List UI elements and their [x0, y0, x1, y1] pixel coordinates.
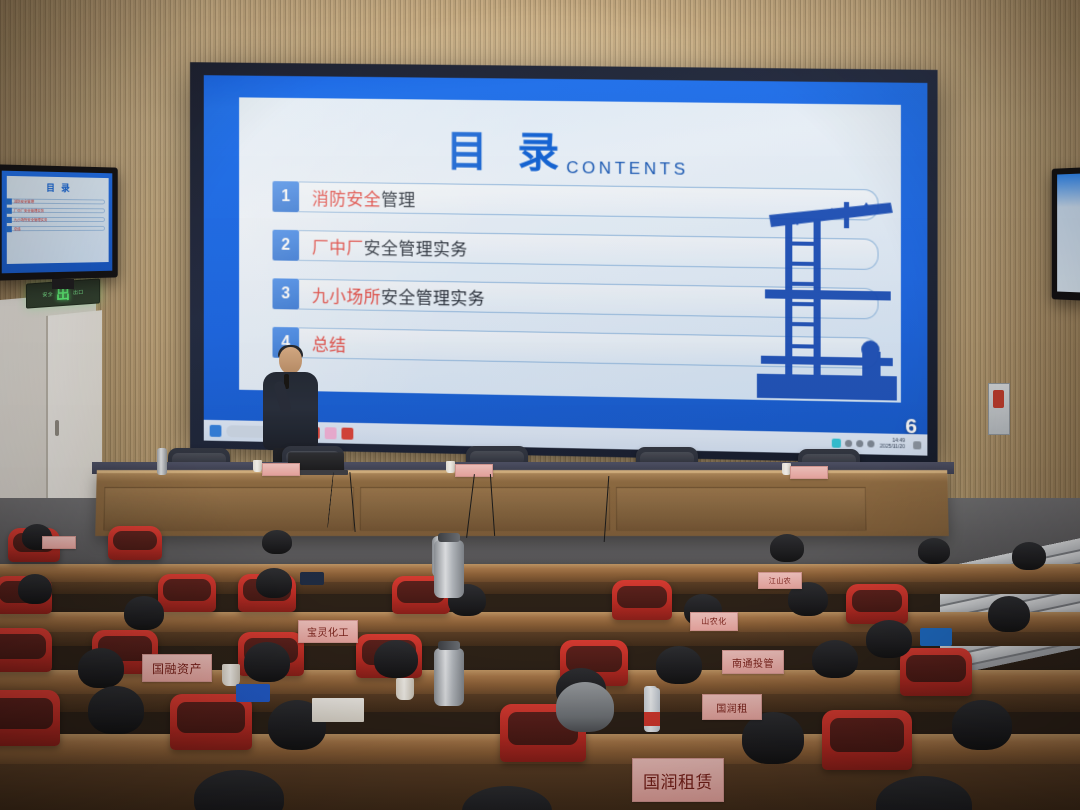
attendee-head: [556, 682, 614, 732]
fire-extinguisher-icon: [993, 390, 1004, 408]
attendee-head: [88, 686, 144, 734]
confidence-monitor-left: 目 录 消防安全管理 厂中厂安全管理实务 九小场所安全管理实务 总结: [0, 164, 118, 280]
monitor-left-screen: 目 录 消防安全管理 厂中厂安全管理实务 九小场所安全管理实务 总结: [2, 171, 113, 274]
windows-start-icon[interactable]: [210, 424, 222, 436]
toc-text-highlight: 厂中厂: [312, 238, 364, 258]
audience-seat[interactable]: [158, 574, 216, 612]
attendee-head: [952, 700, 1012, 750]
attendee-head: [78, 648, 124, 688]
monitor-right-screen: [1057, 173, 1080, 292]
name-placard: 南通投管: [722, 650, 784, 674]
audience-seat[interactable]: [108, 526, 162, 560]
attendee-head: [918, 538, 950, 564]
water-bottle: [644, 688, 660, 732]
paper-cup: [396, 678, 414, 700]
smartphone[interactable]: [300, 572, 324, 585]
smartphone-camera[interactable]: [920, 628, 952, 646]
notebook: [312, 698, 364, 722]
toc-number-badge: 2: [272, 230, 299, 261]
toc-item-text: 厂中厂安全管理实务: [312, 233, 468, 260]
paper-cup: [446, 461, 455, 473]
presenter-head: [279, 347, 302, 374]
attendee-head: [866, 620, 912, 658]
exit-sign-sub-right: 出口: [73, 289, 84, 297]
attendee-head: [812, 640, 858, 678]
head-table-panel: [616, 487, 867, 531]
toc-text-rest: 安全管理实务: [364, 239, 468, 260]
vacuum-flask: [157, 448, 167, 475]
audience-seat[interactable]: [900, 648, 972, 696]
attendee-head: [988, 596, 1030, 632]
attendee-head: [1012, 542, 1046, 570]
monitor-left-stand: [52, 279, 74, 289]
bottle-label: [644, 712, 660, 726]
paper-cup: [222, 664, 240, 686]
toc-number-badge: 1: [272, 181, 299, 212]
monitor-left-row: 消防安全管理: [11, 198, 105, 204]
audience-seat[interactable]: [612, 580, 672, 620]
audience-seat[interactable]: [822, 710, 912, 770]
toc-text-rest: 安全管理实务: [381, 288, 485, 309]
attendee-head: [256, 568, 292, 598]
auditorium-scene: 安全 出 出口 目 录 消防安全管理 厂中厂安全管理实务 九小场所安全管理实务 …: [0, 0, 1080, 810]
wps-spreadsheet-icon[interactable]: [341, 427, 353, 439]
toc-text-highlight: 消防安全: [312, 190, 381, 210]
exit-sign-sub-left: 安全: [42, 291, 53, 299]
gallery-icon[interactable]: [325, 427, 337, 439]
head-table: [95, 470, 949, 536]
confidence-monitor-right: [1052, 167, 1080, 301]
door-handle[interactable]: [55, 420, 59, 436]
toc-number-badge: 3: [272, 278, 299, 309]
name-placard: 江山农: [758, 572, 802, 589]
monitor-left-row: 厂中厂安全管理实务: [11, 208, 105, 214]
attendee-head: [262, 530, 292, 554]
toc-text-rest: 管理: [381, 191, 416, 210]
audience-desk-front: [0, 632, 1080, 646]
name-placard: [790, 466, 828, 479]
audience-seat[interactable]: [0, 690, 60, 746]
name-placard: 山农化: [690, 612, 738, 631]
monitor-left-row: 总结: [11, 226, 105, 231]
notification-icon[interactable]: [913, 441, 921, 449]
name-placard: 国润租: [702, 694, 762, 720]
network-icon[interactable]: [845, 440, 852, 447]
attendee-head: [770, 534, 804, 562]
presenter-jacket: [263, 372, 318, 450]
flask-cap: [438, 641, 460, 650]
input-method-icon[interactable]: [832, 439, 841, 448]
system-tray[interactable]: [832, 439, 875, 449]
name-placard: [262, 463, 300, 476]
name-placard: 国融资产: [142, 654, 212, 682]
taskbar-spacer: [358, 433, 827, 443]
head-table-panel: [360, 487, 610, 531]
slide-title-en: CONTENTS: [566, 158, 689, 179]
name-placard: 宝灵化工: [298, 620, 358, 643]
smartphone[interactable]: [236, 684, 270, 702]
monitor-left-title: 目 录: [7, 180, 109, 195]
name-placard: 国润租赁: [632, 758, 724, 802]
monitor-left-slide: 目 录 消防安全管理 厂中厂安全管理实务 九小场所安全管理实务 总结: [7, 176, 109, 264]
audience-seat[interactable]: [846, 584, 908, 624]
monitor-left-row: 九小场所安全管理实务: [11, 217, 105, 222]
vacuum-flask: [434, 648, 464, 706]
audience-seat[interactable]: [170, 694, 252, 750]
vacuum-flask: [434, 540, 464, 598]
head-table-panel: [103, 487, 354, 531]
clock-date: 2025/11/20: [880, 444, 905, 450]
audience-seat[interactable]: [0, 628, 52, 672]
taskbar-clock[interactable]: 14:49 2025/11/20: [880, 438, 905, 450]
presentation-slide: 目 录CONTENTS 1 消防安全管理 2 厂中厂安全管理实务 3: [239, 97, 901, 402]
slide-title-cn: 目 录: [446, 128, 568, 176]
volume-icon[interactable]: [857, 440, 864, 447]
toc-text-highlight: 九小场所: [312, 287, 381, 307]
attendee-head: [374, 640, 418, 678]
attendee-head: [18, 574, 52, 604]
attendee-head: [244, 642, 290, 682]
toc-item-text: 九小场所安全管理实务: [312, 282, 485, 310]
attendee-head: [124, 596, 164, 630]
name-placard: [42, 536, 76, 549]
paper-cup: [253, 460, 262, 472]
toc-item-text: 消防安全管理: [312, 185, 416, 211]
flask-cap: [438, 533, 460, 542]
battery-icon[interactable]: [868, 440, 875, 447]
construction-crane-icon: [757, 197, 897, 401]
slide-title: 目 录CONTENTS: [239, 115, 901, 184]
attendee-head: [656, 646, 702, 684]
